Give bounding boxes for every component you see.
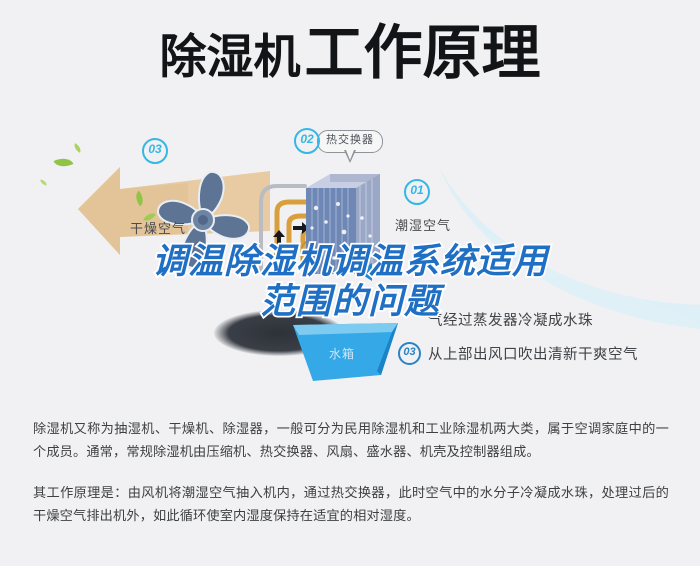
leaf-icon: [53, 154, 73, 171]
step-text-02: 气经过蒸发器冷凝成水珠: [428, 309, 593, 330]
working-principle-diagram: 热交换器 03 02 01 干燥空气 潮湿空气 水箱 02 气经过蒸发器冷凝成水…: [0, 120, 700, 395]
page-title-part2: 工作原理: [304, 20, 540, 86]
diagram-badge-03: 03: [142, 138, 168, 164]
article-paragraph-1: 除湿机又称为抽湿机、干燥机、除湿器，一般可分为民用除湿机和工业除湿机两大类，属于…: [33, 417, 669, 463]
step-text-03: 从上部出风口吹出清新干爽空气: [428, 343, 638, 364]
page-title: 除湿机工作原理: [159, 18, 540, 92]
page-header: 除湿机工作原理: [0, 18, 700, 108]
diagram-step-row: 03 从上部出风口吹出清新干爽空气: [398, 336, 688, 370]
diagram-step-row: 02 气经过蒸发器冷凝成水珠: [398, 302, 688, 336]
article-paragraph-2: 其工作原理是：由风机将潮湿空气抽入机内，通过热交换器，此时空气中的水分子冷凝成水…: [33, 481, 669, 527]
heat-exchanger-graphic: [300, 160, 395, 285]
leaf-icon: [72, 143, 83, 153]
diagram-steps-list: 02 气经过蒸发器冷凝成水珠 03 从上部出风口吹出清新干爽空气: [398, 302, 688, 370]
dry-air-label: 干燥空气: [130, 218, 186, 237]
page-root: 除湿机工作原理: [0, 0, 700, 566]
page-title-part1: 除湿机: [159, 30, 300, 83]
diagram-badge-01: 01: [404, 179, 430, 205]
step-badge-03: 03: [398, 342, 421, 365]
humid-air-label: 潮湿空气: [395, 215, 451, 234]
article-body: 除湿机又称为抽湿机、干燥机、除湿器，一般可分为民用除湿机和工业除湿机两大类，属于…: [33, 417, 669, 527]
water-tank-label: 水箱: [329, 345, 355, 362]
callout-pointer-icon: [344, 150, 356, 163]
water-tank-graphic: 水箱: [293, 323, 398, 385]
diagram-badge-02: 02: [294, 128, 320, 154]
leaf-icon: [40, 179, 48, 185]
